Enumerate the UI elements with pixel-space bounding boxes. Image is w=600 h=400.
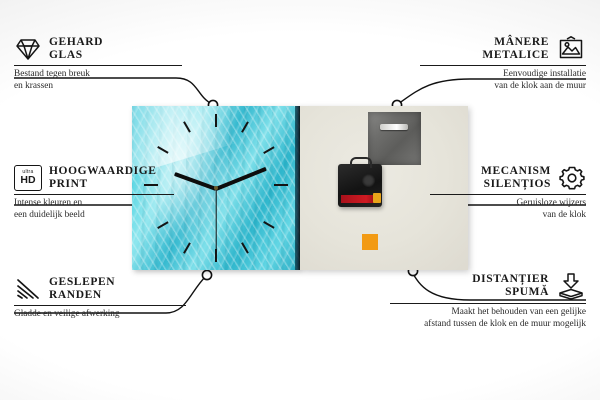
foam-spacer-icon <box>556 272 586 300</box>
callout-subtitle: Intense kleuren en een duidelijk beeld <box>14 198 174 221</box>
callout-geslepen-randen: GESLEPEN RANDEN Gladde en veilige afwerk… <box>14 276 186 321</box>
callout-subtitle: Bestand tegen breuk en krassen <box>14 69 182 92</box>
diamond-icon <box>14 37 42 61</box>
product-image <box>132 106 468 270</box>
callout-title: DISTANȚIER SPUMĂ <box>472 273 549 299</box>
callout-title: MÂNERE METALICE <box>482 36 549 62</box>
clock-tick <box>215 249 217 262</box>
callout-rule <box>14 305 186 306</box>
foam-spacer <box>362 234 378 250</box>
callout-distantier-spuma: DISTANȚIER SPUMĂ Maakt het behouden van … <box>390 272 586 330</box>
mechanism-dial <box>362 174 375 187</box>
clock-mechanism <box>338 164 382 207</box>
callout-hoogwaardige-print: ultra HD HOOGWAARDIGE PRINT Intense kleu… <box>14 165 174 221</box>
dot-geslepen-randen <box>202 270 211 279</box>
battery-label <box>341 195 377 203</box>
ultra-hd-icon: ultra HD <box>14 165 42 191</box>
callout-title: HOOGWAARDIGE PRINT <box>49 165 157 191</box>
infographic-stage: GEHARD GLAS Bestand tegen breuk en krass… <box>0 0 600 400</box>
callout-rule <box>14 194 174 195</box>
callout-manere-metalice: MÂNERE METALICE Eenvoudige installatie v… <box>420 36 586 92</box>
callout-rule <box>430 194 586 195</box>
clock-tick <box>215 114 217 127</box>
mechanism-hanging-loop <box>350 157 372 168</box>
battery-terminal <box>373 193 381 203</box>
callout-title: MECANISM SILENȚIOS <box>481 165 551 191</box>
clock-pivot <box>214 186 218 190</box>
clock-tick <box>274 184 288 186</box>
callout-subtitle: Gladde en veilige afwerking <box>14 309 186 321</box>
callout-mecanism-silentios: MECANISM SILENȚIOS Geruisloze wijzers va… <box>430 165 586 221</box>
callout-rule <box>390 303 586 304</box>
metal-hanger-plate <box>368 112 421 165</box>
clock-second-hand <box>215 188 216 250</box>
diagonal-lines-icon <box>14 277 42 301</box>
callout-gehard-glas: GEHARD GLAS Bestand tegen breuk en krass… <box>14 36 182 92</box>
callout-rule <box>14 65 182 66</box>
foam-spacer-shadow <box>372 238 384 252</box>
callout-subtitle: Eenvoudige installatie van de klok aan d… <box>420 69 586 92</box>
callout-title: GESLEPEN RANDEN <box>49 276 115 302</box>
hanger-slot <box>380 124 408 130</box>
picture-hanger-icon <box>556 36 586 62</box>
gear-icon <box>558 165 586 191</box>
callout-subtitle: Geruisloze wijzers van de klok <box>430 198 586 221</box>
callout-title: GEHARD GLAS <box>49 36 103 62</box>
callout-subtitle: Maakt het behouden van een gelijke afsta… <box>390 307 586 330</box>
ultra-hd-big-text: HD <box>20 175 35 186</box>
callout-rule <box>420 65 586 66</box>
